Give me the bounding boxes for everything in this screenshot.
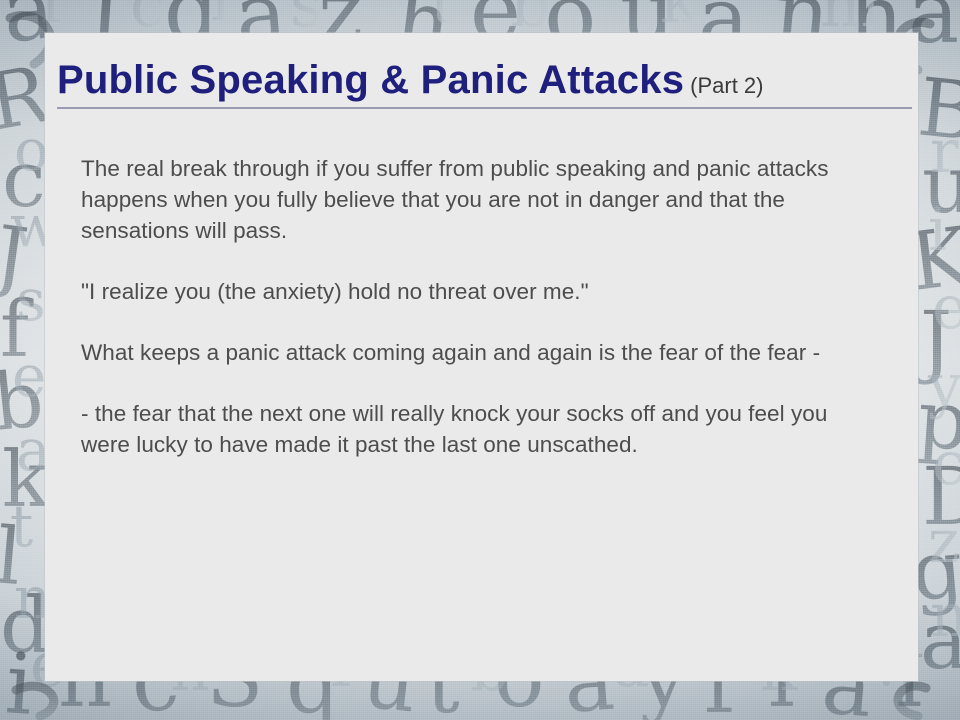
body-paragraph-quote: "I realize you (the anxiety) hold no thr… — [81, 276, 856, 307]
body-paragraph-1: The real break through if you suffer fro… — [81, 153, 856, 246]
body-paragraph-4: - the fear that the next one will really… — [81, 398, 856, 460]
page-title-part-label: (Part 2) — [690, 73, 763, 98]
content-panel: Public Speaking & Panic Attacks(Part 2) … — [45, 33, 918, 681]
body-paragraph-3: What keeps a panic attack coming again a… — [81, 337, 856, 368]
slide-body: The real break through if you suffer fro… — [81, 153, 856, 460]
slide-root: a L d a z h e o u a n h a r c i s t b — [0, 0, 960, 720]
slide-title-block: Public Speaking & Panic Attacks(Part 2) — [57, 58, 912, 109]
page-title: Public Speaking & Panic Attacks — [57, 58, 684, 102]
